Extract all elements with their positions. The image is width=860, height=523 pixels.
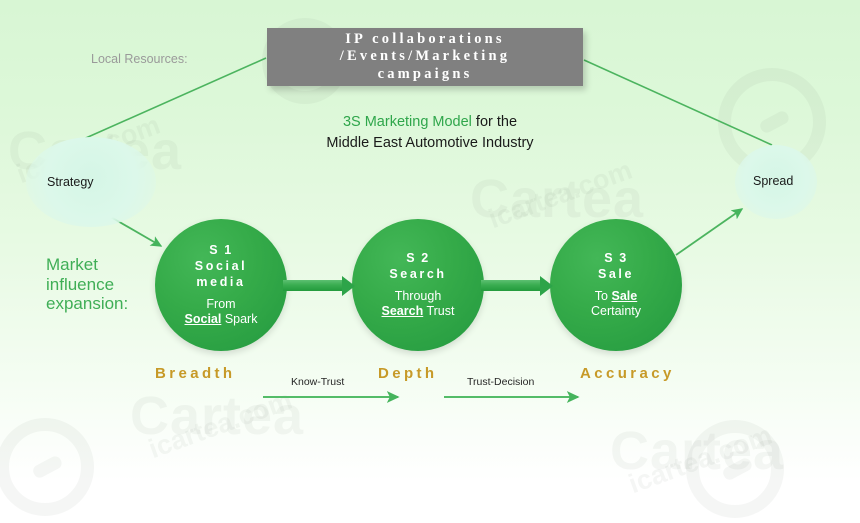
stage-node-s1[interactable]: S 1 Social media From Social Spark — [155, 219, 287, 351]
node-connector-1 — [283, 279, 355, 292]
diagram-canvas: Cartea Cartea Cartea Cartea icartea.com … — [0, 0, 860, 523]
spread-label: Spread — [753, 174, 793, 188]
stage-name-line-1: Sale — [598, 267, 634, 281]
market-influence-line-2: influence — [46, 275, 128, 295]
spread-arrow — [676, 209, 742, 255]
stage-name-line-2: media — [196, 275, 245, 289]
stage-desc-pre: To — [595, 289, 612, 303]
stage-node-s3[interactable]: S 3 Sale To Sale Certainty — [550, 219, 682, 351]
stage-desc-emphasis: Social — [185, 312, 222, 326]
stage-code: S 2 — [406, 251, 430, 266]
stage-code: S 1 — [209, 243, 233, 258]
subtitle-line-1: 3S Marketing Model for the — [0, 112, 860, 133]
transition-label-2: Trust-Decision — [467, 376, 534, 388]
market-influence-label: Market influence expansion: — [46, 255, 128, 314]
outcome-term-breadth: Breadth — [155, 365, 235, 382]
banner-line-3: campaigns — [378, 66, 473, 84]
stage-desc-post: Spark — [221, 312, 257, 326]
stage-desc-post: Certainty — [591, 304, 641, 318]
market-influence-line-3: expansion: — [46, 294, 128, 314]
watermark-brand: Cartea — [130, 385, 304, 447]
stage-description: Through Search Trust — [382, 289, 455, 320]
banner-line-1: IP collaborations — [345, 31, 505, 49]
banner-title-box: IP collaborations /Events/Marketing camp… — [267, 28, 583, 86]
watermark-domain: icartea.com — [145, 385, 297, 465]
market-influence-line-1: Market — [46, 255, 128, 275]
stage-name: Social media — [195, 258, 247, 290]
stage-desc-pre: Through — [395, 289, 442, 303]
watermark-logo-icon — [686, 420, 784, 518]
stage-desc-pre: From — [206, 297, 235, 311]
subtitle-highlight: 3S Marketing Model — [343, 114, 472, 130]
connector-shaft — [283, 280, 342, 291]
stage-desc-emphasis: Sale — [611, 289, 637, 303]
stage-desc-post: Trust — [423, 304, 454, 318]
connector-arrowhead — [342, 276, 355, 296]
transition-label-1: Know-Trust — [291, 376, 344, 388]
stage-description: To Sale Certainty — [591, 289, 641, 320]
local-resources-label: Local Resources: — [91, 52, 188, 66]
banner-line-2: /Events/Marketing — [340, 48, 510, 66]
stage-name: Search — [389, 266, 446, 282]
watermark-logo-icon — [0, 418, 94, 516]
stage-name-line-1: Social — [195, 259, 247, 273]
outcome-term-accuracy: Accuracy — [580, 365, 675, 382]
connector-shaft — [481, 280, 540, 291]
connector-arrowhead — [540, 276, 553, 296]
stage-name-line-1: Search — [389, 267, 446, 281]
stage-node-s2[interactable]: S 2 Search Through Search Trust — [352, 219, 484, 351]
stage-description: From Social Spark — [185, 297, 258, 328]
stage-code: S 3 — [604, 251, 628, 266]
outcome-term-depth: Depth — [378, 365, 438, 382]
strategy-label: Strategy — [47, 175, 94, 189]
stage-desc-emphasis: Search — [382, 304, 424, 318]
watermark-domain: icartea.com — [625, 420, 777, 500]
stage-name: Sale — [598, 266, 634, 282]
subtitle-rest: for the — [472, 114, 517, 130]
node-connector-2 — [481, 279, 553, 292]
watermark-brand: Cartea — [610, 420, 784, 482]
